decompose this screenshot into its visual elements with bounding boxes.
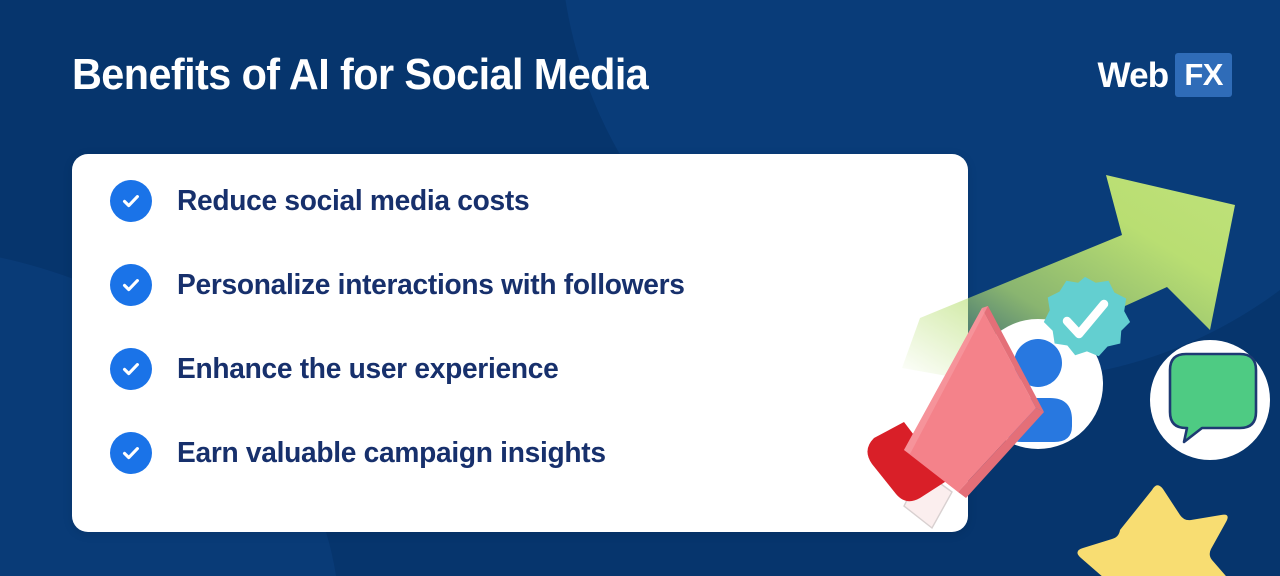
check-circle-icon	[110, 180, 152, 222]
logo-word: Web	[1098, 58, 1169, 93]
webfx-logo: Web FX	[1098, 54, 1232, 96]
infographic-canvas: Benefits of AI for Social Media Web FX R…	[0, 0, 1280, 576]
check-circle-icon	[110, 264, 152, 306]
check-circle-icon	[110, 348, 152, 390]
benefits-list: Reduce social media costs Personalize in…	[110, 180, 948, 474]
logo-badge: FX	[1175, 53, 1232, 97]
list-item: Earn valuable campaign insights	[110, 432, 948, 474]
page-title: Benefits of AI for Social Media	[72, 50, 648, 100]
megaphone-icon	[860, 120, 1280, 576]
list-item: Reduce social media costs	[110, 180, 948, 222]
benefits-card: Reduce social media costs Personalize in…	[72, 154, 968, 532]
list-item: Personalize interactions with followers	[110, 264, 948, 306]
list-item-label: Reduce social media costs	[177, 185, 529, 218]
list-item-label: Enhance the user experience	[177, 353, 558, 386]
list-item: Enhance the user experience	[110, 348, 948, 390]
illustration-group	[860, 120, 1280, 576]
list-item-label: Earn valuable campaign insights	[177, 437, 606, 470]
check-circle-icon	[110, 432, 152, 474]
list-item-label: Personalize interactions with followers	[177, 269, 685, 302]
